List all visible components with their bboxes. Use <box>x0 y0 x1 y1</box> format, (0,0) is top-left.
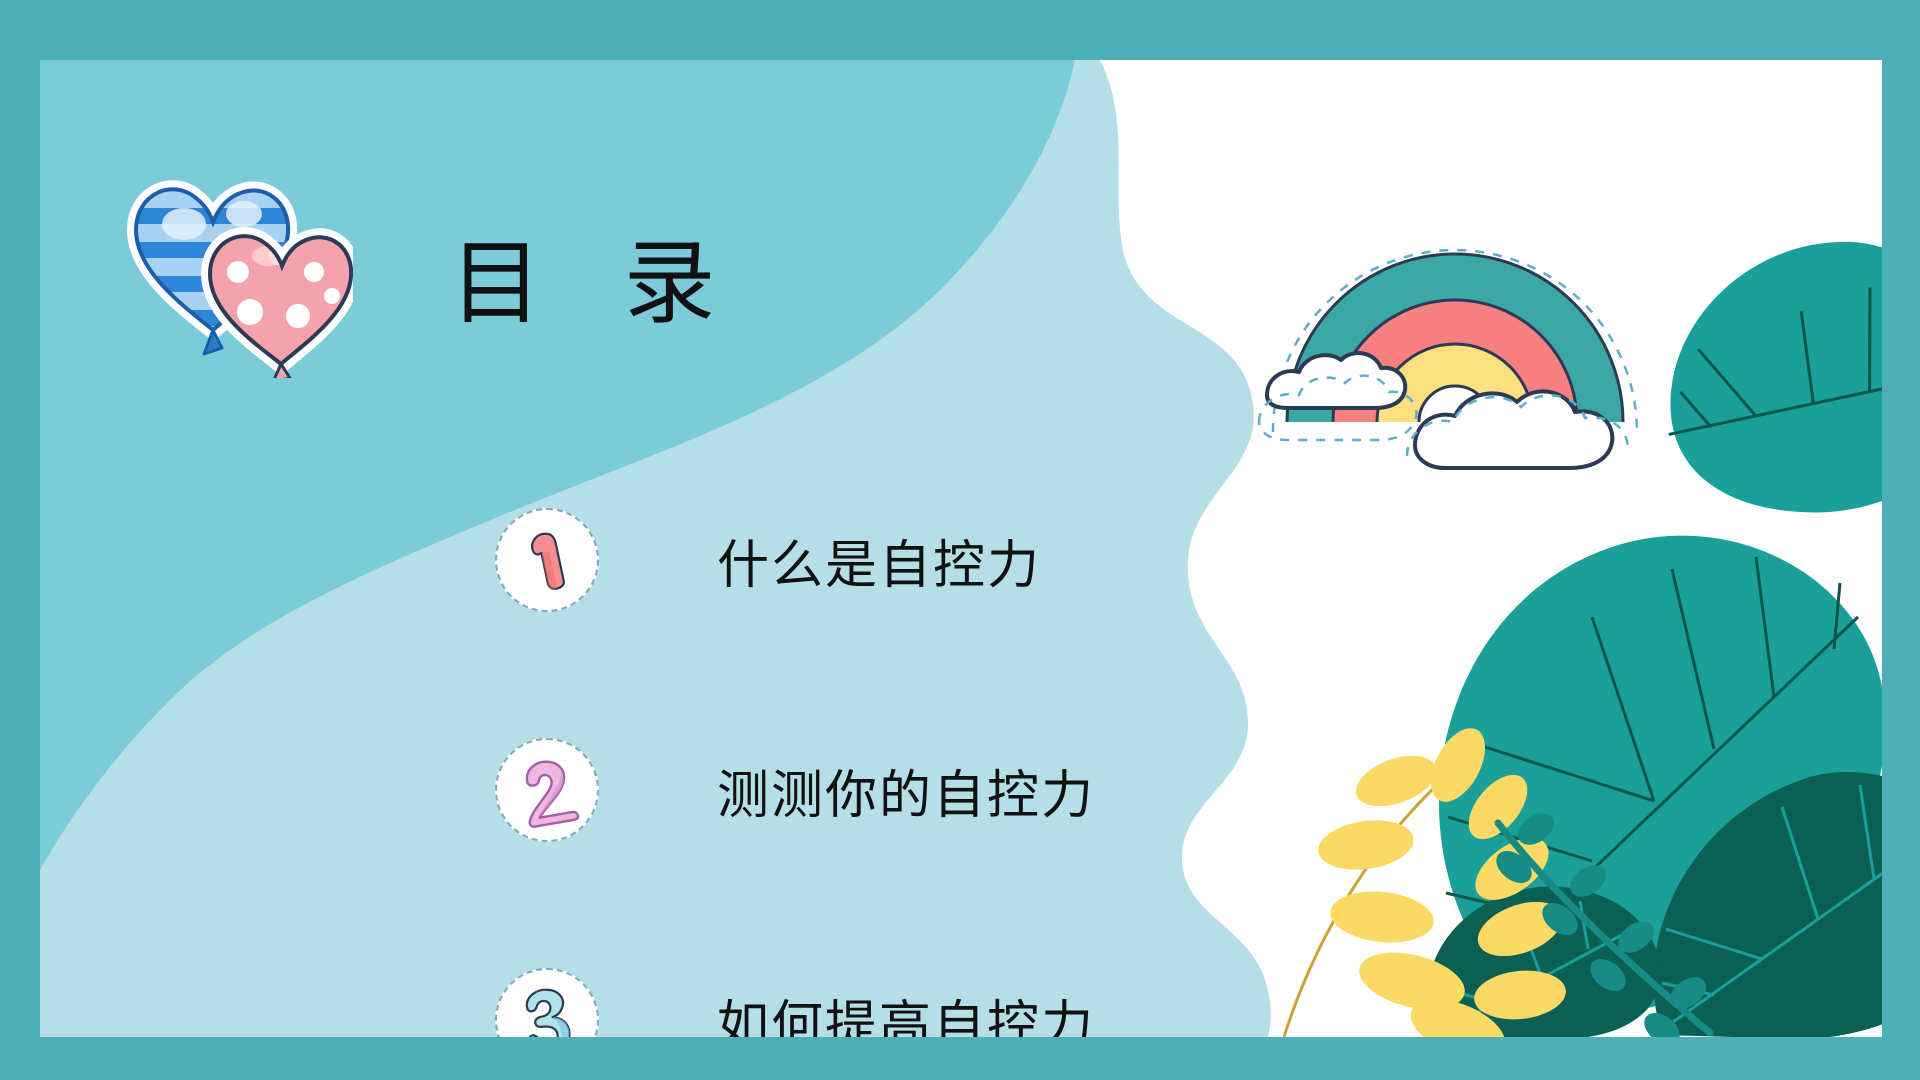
number-three-icon <box>495 968 599 1037</box>
vine-decoration <box>1480 797 1810 1037</box>
toc-badge-3 <box>495 968 599 1037</box>
rainbow-decoration <box>1255 190 1655 470</box>
rainbow-icon <box>1255 190 1655 470</box>
list-item[interactable]: 什么是自控力 <box>495 485 1475 635</box>
toc-label-2: 测测你的自控力 <box>717 753 1095 828</box>
toc-label-1: 什么是自控力 <box>717 523 1041 598</box>
toc-badge-2 <box>495 738 599 842</box>
heart-balloons-decoration <box>118 168 353 378</box>
vine-icon <box>1480 797 1810 1037</box>
slide-card: 目 录 什么是自控力 <box>40 60 1882 1037</box>
toc-list: 什么是自控力 测测你的自控力 <box>495 485 1475 1037</box>
page-title: 目 录 <box>450 238 744 330</box>
list-item[interactable]: 如何提高自控力 <box>495 945 1475 1037</box>
number-two-icon <box>495 738 599 842</box>
slide-canvas: 目 录 什么是自控力 <box>0 0 1920 1080</box>
toc-label-3: 如何提高自控力 <box>717 983 1095 1038</box>
pink-heart-balloon <box>198 218 353 378</box>
list-item[interactable]: 测测你的自控力 <box>495 715 1475 865</box>
toc-badge-1 <box>495 508 599 612</box>
heart-balloons-icon <box>118 168 353 378</box>
number-one-icon <box>495 508 599 612</box>
